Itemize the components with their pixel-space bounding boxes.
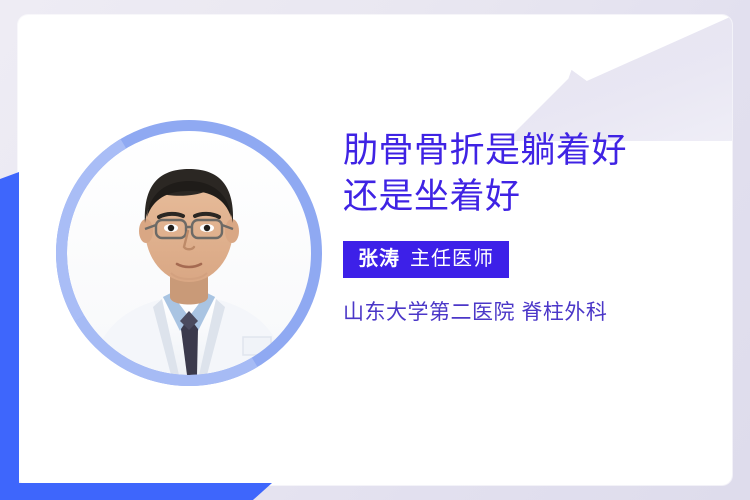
doctor-title: 主任医师 bbox=[410, 248, 494, 270]
bottom-accent-bar bbox=[0, 483, 272, 500]
doctor-affiliation: 山东大学第二医院 脊柱外科 bbox=[343, 300, 713, 325]
avatar bbox=[56, 120, 322, 386]
page-title: 肋骨骨折是躺着好 还是坐着好 bbox=[343, 128, 713, 219]
left-accent-bar bbox=[0, 172, 19, 500]
poster-text-column: 肋骨骨折是躺着好 还是坐着好 张涛主任医师 山东大学第二医院 脊柱外科 bbox=[343, 128, 713, 325]
doctor-name: 张涛 bbox=[358, 248, 400, 270]
doctor-profile-poster: 肋骨骨折是躺着好 还是坐着好 张涛主任医师 山东大学第二医院 脊柱外科 bbox=[0, 0, 750, 500]
doctor-credential-badge: 张涛主任医师 bbox=[343, 241, 509, 278]
